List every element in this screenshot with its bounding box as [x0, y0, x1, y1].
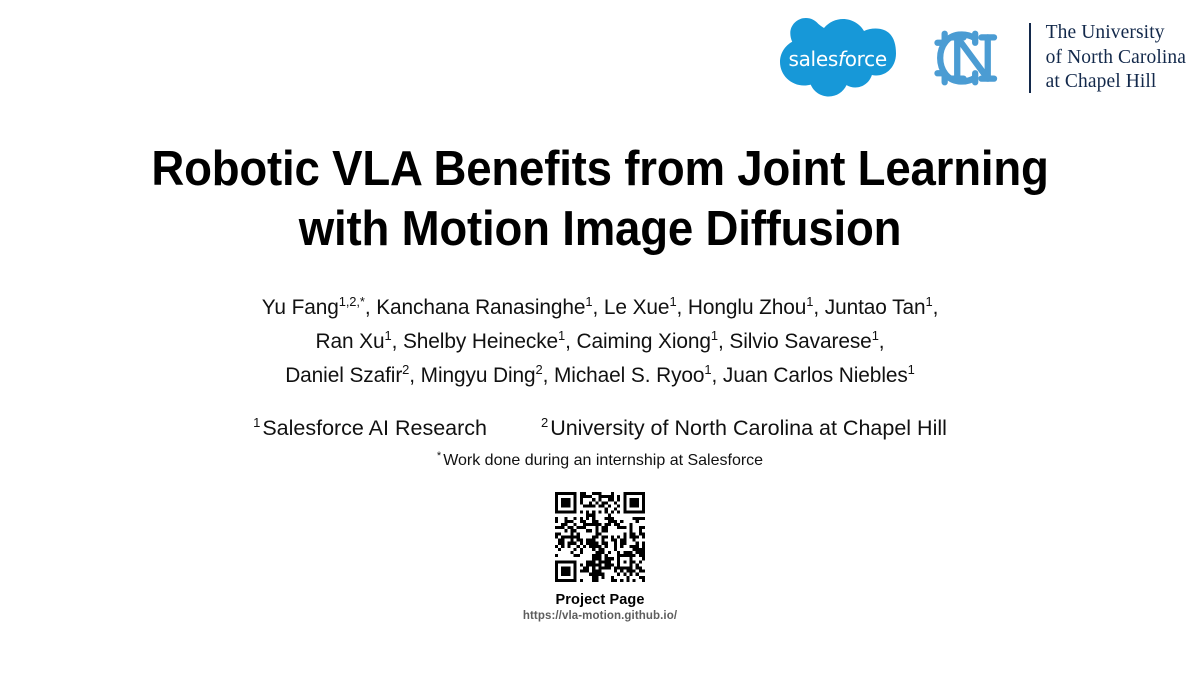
salesforce-wordmark-prefix: sales: [788, 47, 837, 71]
project-page-label: Project Page: [0, 592, 1200, 608]
author-list: Yu Fang1,2,*, Kanchana Ranasinghe1, Le X…: [18, 290, 1182, 392]
project-page-qr-code[interactable]: [555, 492, 645, 582]
paper-title: Robotic VLA Benefits from Joint Learning…: [42, 139, 1158, 259]
affiliation-1-marker: 1: [253, 415, 260, 430]
unc-text-line-3: at Chapel Hill: [1046, 70, 1186, 95]
logo-bar: salesforce: [780, 12, 1186, 104]
paper-title-line-1: Robotic VLA Benefits from Joint Learning: [42, 139, 1158, 199]
author-line-2: Ran Xu1, Shelby Heinecke1, Caiming Xiong…: [18, 324, 1182, 358]
salesforce-wordmark-italic-f: f: [838, 47, 845, 71]
author-line-1: Yu Fang1,2,*, Kanchana Ranasinghe1, Le X…: [18, 290, 1182, 324]
footnote-text: Work done during an internship at Salesf…: [443, 452, 763, 469]
unc-text-line-1: The University: [1046, 21, 1186, 46]
title-slide: salesforce: [0, 0, 1200, 675]
footnote-marker: *: [437, 450, 441, 462]
salesforce-wordmark-suffix: orce: [845, 47, 887, 71]
affiliation-1: 1Salesforce AI Research: [253, 416, 487, 441]
paper-title-line-2: with Motion Image Diffusion: [42, 199, 1158, 259]
author-line-3: Daniel Szafir2, Mingyu Ding2, Michael S.…: [18, 358, 1182, 392]
salesforce-logo: salesforce: [780, 18, 896, 98]
affiliation-2: 2University of North Carolina at Chapel …: [541, 416, 947, 441]
unc-interlocking-nc-icon: [922, 23, 1014, 93]
affiliations: 1Salesforce AI Research 2University of N…: [0, 416, 1200, 441]
affiliation-1-label: Salesforce AI Research: [262, 416, 487, 440]
unc-logo-text: The University of North Carolina at Chap…: [1046, 21, 1186, 95]
project-page-url[interactable]: https://vla-motion.github.io/: [0, 610, 1200, 622]
footnote: *Work done during an internship at Sales…: [0, 452, 1200, 470]
affiliation-2-label: University of North Carolina at Chapel H…: [550, 416, 947, 440]
affiliation-2-marker: 2: [541, 415, 548, 430]
unc-logo: The University of North Carolina at Chap…: [922, 21, 1186, 95]
project-page-block: Project Page https://vla-motion.github.i…: [0, 492, 1200, 622]
unc-text-line-2: of North Carolina: [1046, 46, 1186, 71]
salesforce-wordmark: salesforce: [780, 47, 896, 71]
unc-logo-divider: [1029, 23, 1031, 93]
